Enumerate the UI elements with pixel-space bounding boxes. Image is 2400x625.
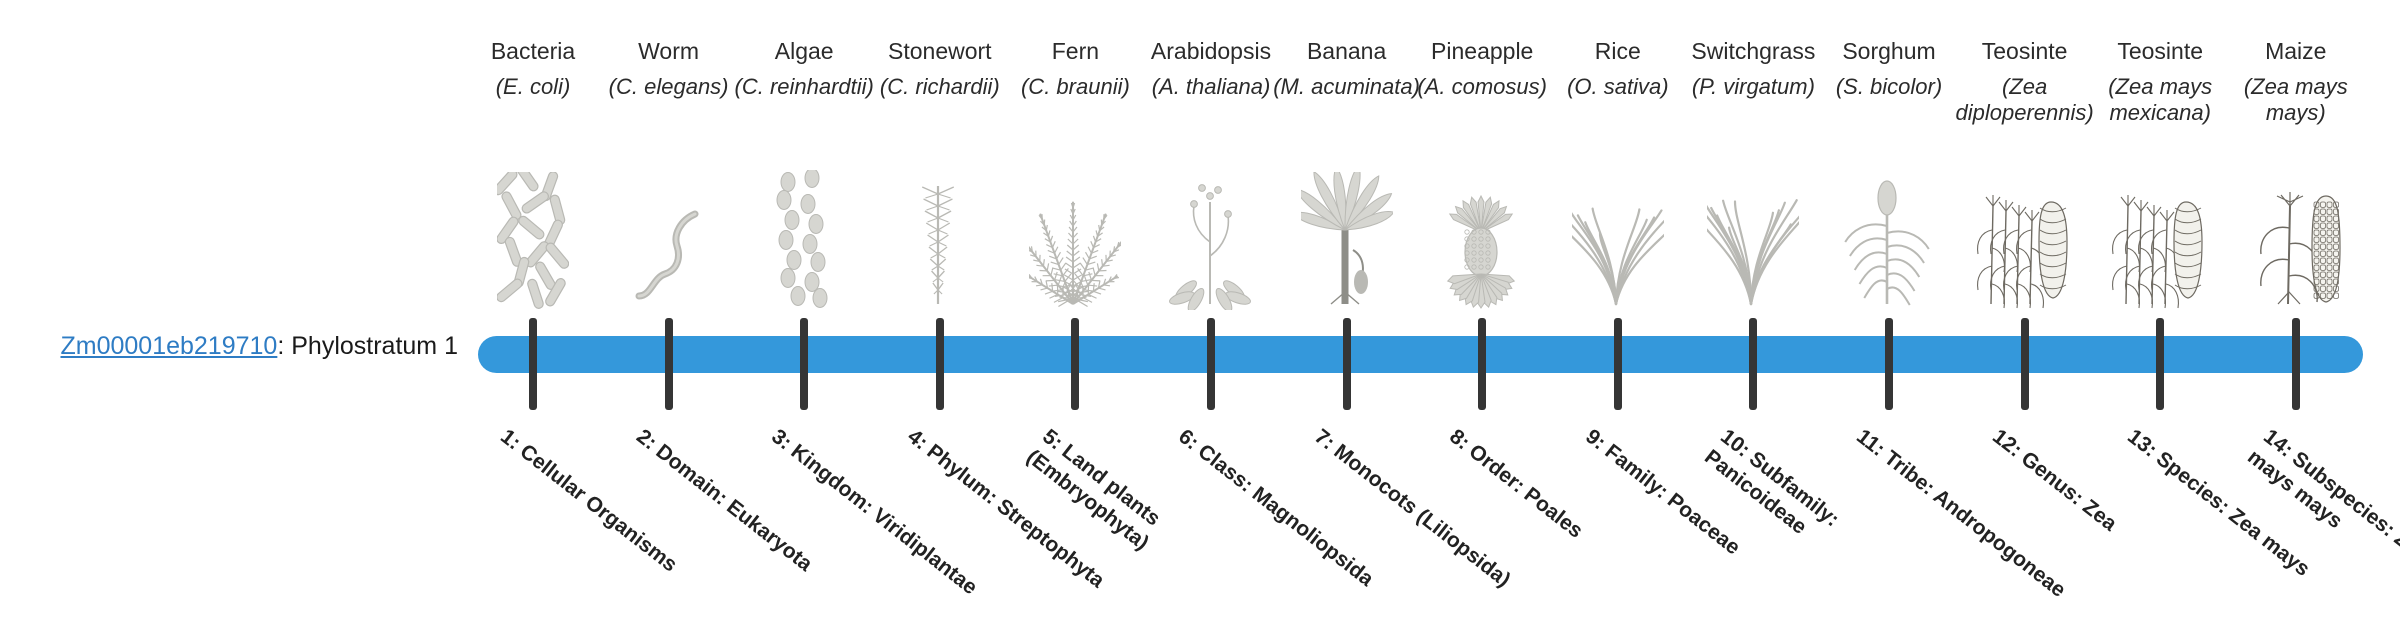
organism-illustration-stonewort-icon <box>865 168 1015 310</box>
organism-illustration-worm-icon <box>594 168 744 310</box>
organism-illustration-fern-icon <box>1000 168 1150 310</box>
species-scientific-name: (Zea mays mays) <box>2221 74 2371 128</box>
species-common-name: Switchgrass <box>1678 38 1828 65</box>
species-scientific-name: (Zea diploperennis) <box>1950 74 2100 128</box>
species-common-name: Banana <box>1272 38 1422 65</box>
species-column-2: Worm(C. elegans) <box>594 38 744 128</box>
tick-mark-12 <box>2021 318 2029 410</box>
gene-phylostratum-label: Zm00001eb219710: Phylostratum 1 <box>0 331 458 361</box>
tick-mark-13 <box>2156 318 2164 410</box>
species-column-5: Fern(C. braunii) <box>1000 38 1150 128</box>
species-column-8: Pineapple(A. comosus) <box>1407 38 1557 128</box>
organism-illustration-sorghum-icon <box>1814 168 1964 310</box>
species-scientific-name: (M. acuminata) <box>1272 74 1422 128</box>
banana-icon <box>1301 172 1393 310</box>
switchgrass-icon <box>1707 174 1799 310</box>
species-column-1: Bacteria(E. coli) <box>458 38 608 128</box>
sorghum-icon <box>1843 172 1935 310</box>
tick-mark-3 <box>800 318 808 410</box>
tick-mark-10 <box>1749 318 1757 410</box>
species-scientific-name: (P. virgatum) <box>1678 74 1828 128</box>
gene-label-separator: : <box>277 332 291 360</box>
organism-illustration-bacteria-icon <box>458 168 608 310</box>
species-column-14: Maize(Zea mays mays) <box>2221 38 2371 128</box>
species-scientific-name: (Zea mays mexicana) <box>2085 74 2235 128</box>
species-column-3: Algae(C. reinhardtii) <box>729 38 879 128</box>
species-column-7: Banana(M. acuminata) <box>1272 38 1422 128</box>
maize-icon <box>2244 172 2348 310</box>
pineapple-icon <box>1437 170 1527 310</box>
species-scientific-name: (S. bicolor) <box>1814 74 1964 128</box>
tick-mark-4 <box>936 318 944 410</box>
species-common-name: Teosinte <box>2085 38 2235 65</box>
species-common-name: Teosinte <box>1950 38 2100 65</box>
species-common-name: Rice <box>1543 38 1693 65</box>
species-common-name: Maize <box>2221 38 2371 65</box>
stratum-label-7: 7: Monocots (Liliopsida) <box>1309 424 1530 605</box>
species-column-12: Teosinte(Zea diploperennis) <box>1950 38 2100 128</box>
species-common-name: Worm <box>594 38 744 65</box>
species-column-6: Arabidopsis(A. thaliana) <box>1136 38 1286 128</box>
tick-mark-5 <box>1071 318 1079 410</box>
phylostratum-text: Phylostratum 1 <box>291 332 458 360</box>
phylostratum-figure: Zm00001eb219710: Phylostratum 1 Bacteria… <box>0 0 2400 580</box>
phylostratum-track-bar <box>478 336 2363 373</box>
species-scientific-name: (C. richardii) <box>865 74 1015 128</box>
organism-illustration-maize-icon <box>2221 168 2371 310</box>
species-scientific-name: (C. braunii) <box>1000 74 1150 128</box>
fern-icon <box>1029 176 1121 310</box>
tick-mark-11 <box>1885 318 1893 410</box>
teosinte-diploperennis-icon <box>1975 172 2075 310</box>
species-common-name: Bacteria <box>458 38 608 65</box>
tick-mark-7 <box>1343 318 1351 410</box>
organism-illustration-teosinte-diploperennis-icon <box>1950 168 2100 310</box>
organism-illustration-arabidopsis-icon <box>1136 168 1286 310</box>
tick-mark-2 <box>665 318 673 410</box>
organism-illustration-switchgrass-icon <box>1678 168 1828 310</box>
species-common-name: Algae <box>729 38 879 65</box>
species-scientific-name: (C. reinhardtii) <box>729 74 879 128</box>
tick-mark-8 <box>1478 318 1486 410</box>
species-column-11: Sorghum(S. bicolor) <box>1814 38 1964 128</box>
species-scientific-name: (A. comosus) <box>1407 74 1557 128</box>
gene-id-link[interactable]: Zm00001eb219710 <box>60 332 277 360</box>
tick-mark-9 <box>1614 318 1622 410</box>
organism-illustration-rice-icon <box>1543 168 1693 310</box>
algae-icon <box>772 170 836 310</box>
species-scientific-name: (A. thaliana) <box>1136 74 1286 128</box>
species-scientific-name: (E. coli) <box>458 74 608 128</box>
species-column-9: Rice(O. sativa) <box>1543 38 1693 128</box>
organism-illustration-banana-icon <box>1272 168 1422 310</box>
tick-mark-1 <box>529 318 537 410</box>
organism-illustration-pineapple-icon <box>1407 168 1557 310</box>
species-column-10: Switchgrass(P. virgatum) <box>1678 38 1828 128</box>
species-common-name: Stonewort <box>865 38 1015 65</box>
organism-illustration-algae-icon <box>729 168 879 310</box>
species-common-name: Sorghum <box>1814 38 1964 65</box>
species-scientific-name: (C. elegans) <box>594 74 744 128</box>
bacteria-icon <box>497 172 569 310</box>
species-scientific-name: (O. sativa) <box>1543 74 1693 128</box>
rice-icon <box>1572 174 1664 310</box>
tick-mark-6 <box>1207 318 1215 410</box>
species-column-4: Stonewort(C. richardii) <box>865 38 1015 128</box>
stratum-label-12: 12: Genus: Zea <box>1987 424 2208 605</box>
organism-illustration-teosinte-mexicana-icon <box>2085 168 2235 310</box>
species-common-name: Pineapple <box>1407 38 1557 65</box>
species-common-name: Arabidopsis <box>1136 38 1286 65</box>
stonewort-icon <box>898 172 982 310</box>
worm-icon <box>633 200 705 310</box>
stratum-label-2: 2: Domain: Eukaryota <box>631 424 852 605</box>
species-common-name: Fern <box>1000 38 1150 65</box>
species-column-13: Teosinte(Zea mays mexicana) <box>2085 38 2235 128</box>
teosinte-mexicana-icon <box>2110 172 2210 310</box>
tick-mark-14 <box>2292 318 2300 410</box>
arabidopsis-icon <box>1166 172 1256 310</box>
